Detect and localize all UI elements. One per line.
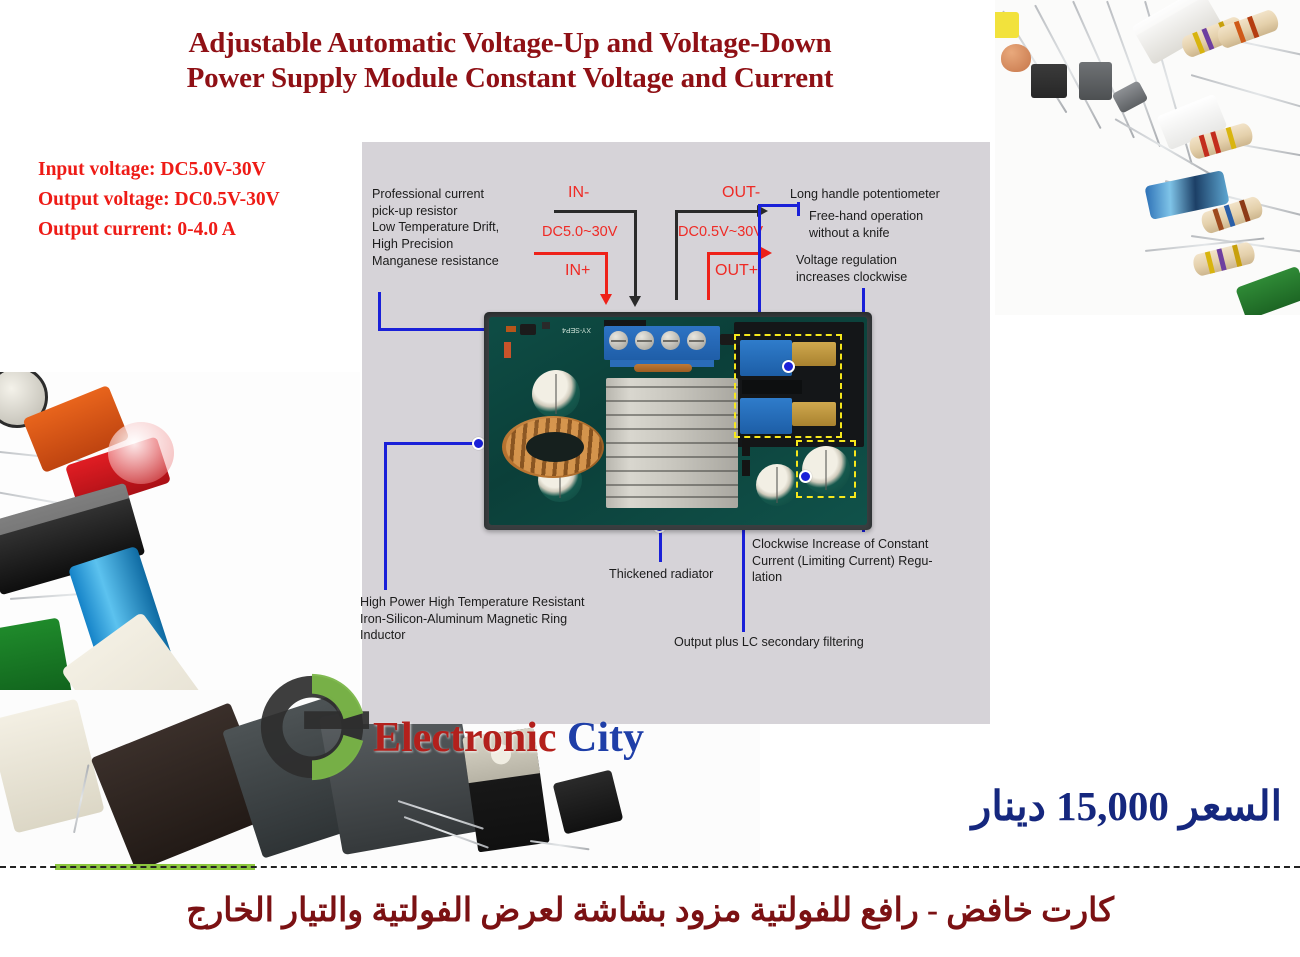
annotation-inductor: High Power High Temperature Resistant Ir…	[360, 594, 660, 644]
highlight-potentiometers	[734, 334, 842, 438]
label-out-minus: OUT-	[722, 184, 760, 202]
arabic-description: كارت خافض - رافع للفولتية مزود بشاشة لعر…	[0, 890, 1300, 930]
annotation-radiator: Thickened radiator	[609, 566, 759, 583]
title-line-1: Adjustable Automatic Voltage-Up and Volt…	[60, 26, 960, 61]
annotation-free-hand: Free-hand operation without a knife	[809, 208, 999, 241]
logo-word-electronic: Electronic	[373, 715, 557, 761]
product-diagram-panel: Professional current pick-up resistor Lo…	[362, 142, 990, 724]
arrow-in-plus	[600, 294, 612, 305]
heatsink	[606, 378, 738, 508]
spec-output-current: Output current: 0-4.0 A	[38, 215, 280, 245]
logo-wordmark: Electronic City	[373, 714, 644, 762]
components-photo-top-right	[995, 0, 1300, 315]
logo-word-city: City	[567, 715, 644, 761]
divider-dashed	[0, 866, 1300, 869]
screw-terminal-block	[604, 326, 720, 360]
brand-logo: Electronic City	[253, 666, 723, 786]
label-in-plus: IN+	[565, 262, 590, 280]
advertisement-page: Adjustable Automatic Voltage-Up and Volt…	[0, 0, 1300, 957]
annotation-lc-filter: Output plus LC secondary filtering	[674, 634, 974, 651]
annotation-pickup-resistor: Professional current pick-up resistor Lo…	[372, 186, 552, 270]
price-text: السعر 15,000 دينار	[972, 782, 1282, 830]
arrow-out-plus	[761, 247, 772, 259]
pcb-module-photo: XY-SEP4	[484, 312, 872, 530]
annotation-potentiometer: Long handle potentiometer	[790, 186, 990, 203]
callout-dot-board-pot-top	[782, 360, 795, 373]
page-title: Adjustable Automatic Voltage-Up and Volt…	[60, 26, 960, 97]
arrow-in-minus	[629, 296, 641, 307]
spec-output-voltage: Output voltage: DC0.5V-30V	[38, 185, 280, 215]
spec-input-voltage: Input voltage: DC5.0V-30V	[38, 155, 280, 185]
label-in-minus: IN-	[568, 184, 589, 202]
label-out-voltage: DC0.5V~30V	[678, 224, 763, 240]
label-in-voltage: DC5.0~30V	[542, 224, 617, 240]
callout-dot-board-cap	[799, 470, 812, 483]
board-silkscreen: XY-SEP4	[562, 326, 591, 333]
capacitor-input-top	[532, 370, 580, 418]
electronic-city-logo-icon	[253, 668, 371, 786]
label-out-plus: OUT+	[715, 262, 758, 280]
title-line-2: Power Supply Module Constant Voltage and…	[60, 61, 960, 96]
specifications-list: Input voltage: DC5.0V-30V Output voltage…	[38, 155, 280, 245]
annotation-constant-current: Clockwise Increase of Constant Current (…	[752, 536, 980, 586]
capacitor-output-1	[756, 464, 798, 506]
annotation-voltage-regulation: Voltage regulation increases clockwise	[796, 252, 986, 285]
highlight-output-caps	[796, 440, 856, 498]
